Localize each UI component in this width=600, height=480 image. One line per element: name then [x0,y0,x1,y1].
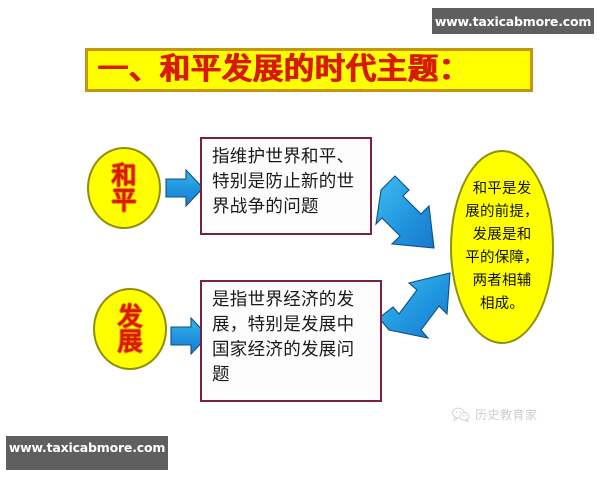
watermark-top-text: www.taxicabmore.com [435,14,591,29]
arrow-peace-to-definition [166,170,203,206]
conclusion-line: 两者相辅 [473,270,532,293]
arrow-development-to-conclusion [379,273,450,338]
wechat-icon [452,407,470,422]
node-development-char-2: 展 [117,329,142,355]
conclusion-line: 发展是和 [473,224,532,247]
watermark-bottom-text: www.taxicabmore.com [9,440,165,455]
development-definition-text: 是指世界经济的发展，特别是发展中国家经济的发展问题 [212,290,354,385]
watermark-bottom: www.taxicabmore.com [6,436,168,470]
title-banner: 一、和平发展的时代主题： [85,48,533,92]
watermark-top: www.taxicabmore.com [432,8,594,34]
page-title: 一、和平发展的时代主题： [98,55,470,85]
node-peace-char-2: 平 [111,188,136,214]
conclusion-line: 展的前提， [465,201,539,224]
node-peace-circle: 和 平 [87,147,161,229]
node-peace-char-1: 和 [111,163,136,189]
node-development-circle: 发 展 [93,288,167,370]
conclusion-line: 平的保障， [465,247,539,270]
conclusion-ellipse: 和平是发 展的前提， 发展是和 平的保障， 两者相辅 相成。 [450,150,554,344]
node-development-char-1: 发 [117,304,142,330]
peace-definition-text: 指维护世界和平、特别是防止新的世界战争的问题 [212,147,354,217]
conclusion-line: 和平是发 [473,178,532,201]
wechat-account-label: 历史教育家 [475,406,538,423]
slide-canvas: 一、和平发展的时代主题： 和 平 发 展 指维护世界和平、特别是防止新的世界战争… [0,0,600,480]
peace-definition-box: 指维护世界和平、特别是防止新的世界战争的问题 [200,137,372,235]
conclusion-line: 相成。 [480,293,524,316]
arrow-peace-to-conclusion [376,176,434,248]
development-definition-box: 是指世界经济的发展，特别是发展中国家经济的发展问题 [200,280,382,402]
wechat-credit: 历史教育家 [452,406,538,423]
